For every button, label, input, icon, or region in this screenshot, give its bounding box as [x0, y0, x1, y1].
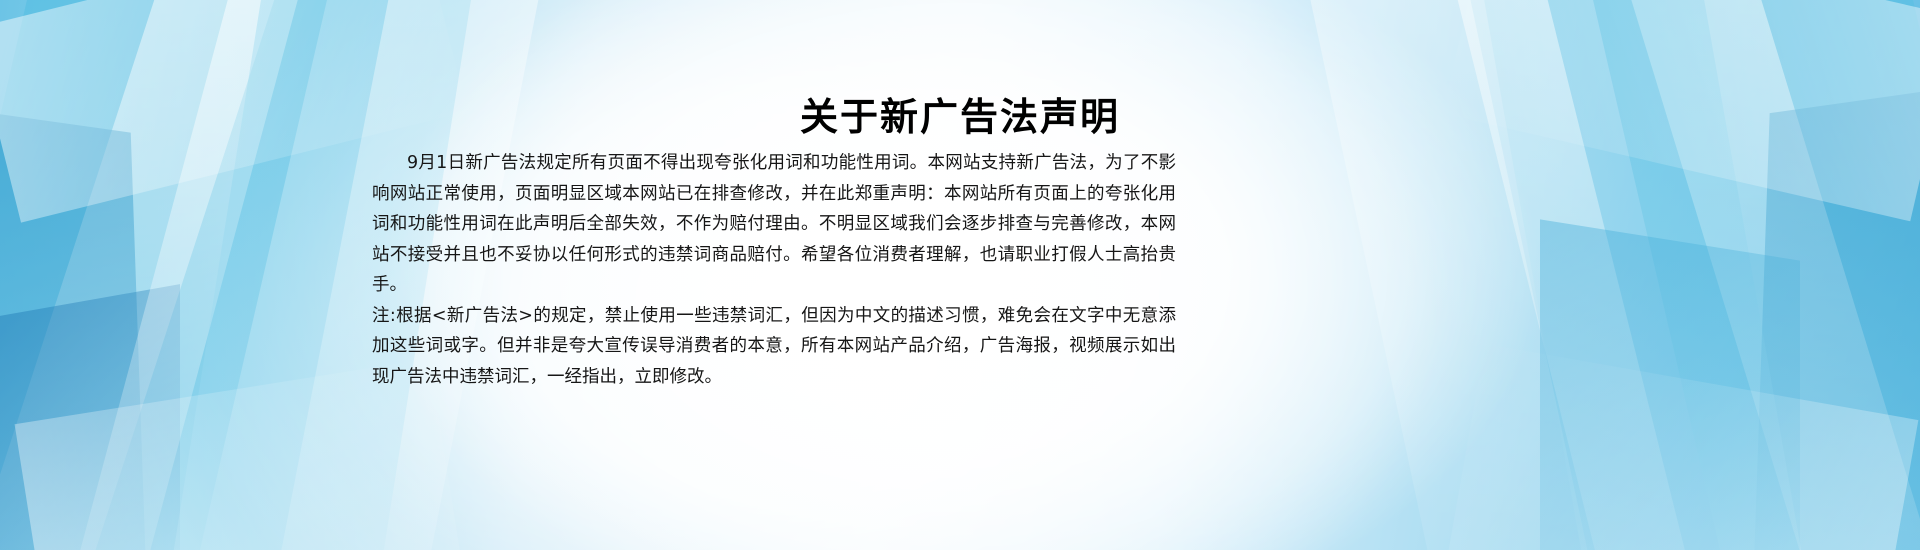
statement-content: 关于新广告法声明 9月1日新广告法规定所有页面不得出现夸张化用词和功能性用词。本…: [0, 0, 1920, 550]
statement-paragraph-main: 9月1日新广告法规定所有页面不得出现夸张化用词和功能性用词。本网站支持新广告法，…: [372, 148, 1176, 301]
statement-paragraph-note: 注:根据<新广告法>的规定，禁止使用一些违禁词汇，但因为中文的描述习惯，难免会在…: [372, 301, 1176, 393]
statement-body: 9月1日新广告法规定所有页面不得出现夸张化用词和功能性用词。本网站支持新广告法，…: [372, 148, 1176, 392]
advertising-law-statement-banner: 关于新广告法声明 9月1日新广告法规定所有页面不得出现夸张化用词和功能性用词。本…: [0, 0, 1920, 550]
page-title: 关于新广告法声明: [0, 86, 1920, 141]
